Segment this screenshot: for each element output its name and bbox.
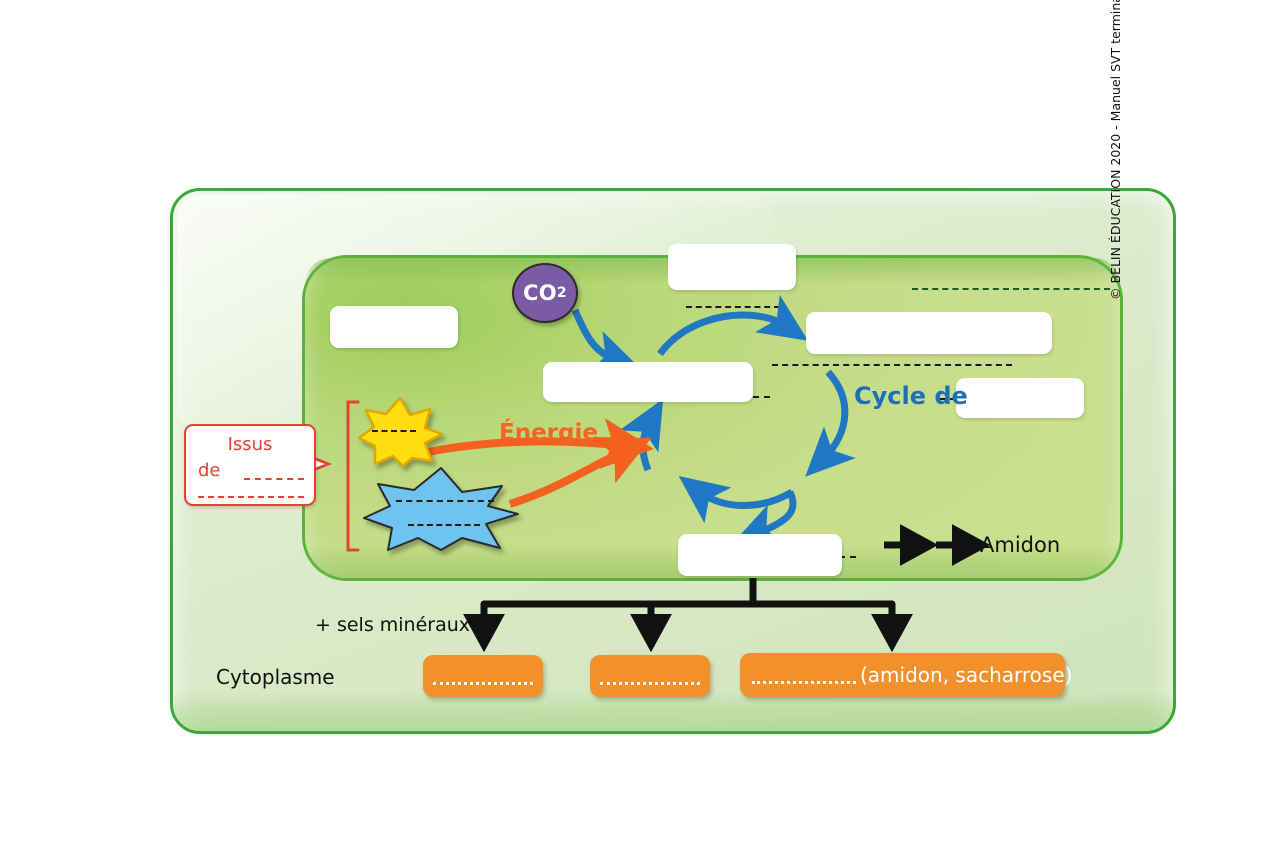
product-2-blank[interactable] <box>600 668 700 685</box>
arrow-energie-lower <box>510 450 626 504</box>
product-box-2[interactable] <box>590 655 710 697</box>
energie-label: Énergie <box>499 420 598 446</box>
arrow-co2-to-center <box>575 310 616 360</box>
answer-box-center-middle[interactable] <box>543 362 753 402</box>
copyright-text: © BELIN ÉDUCATION 2020 - Manuel SVT term… <box>1108 0 1123 300</box>
cytoplasme-label: Cytoplasme <box>216 665 335 689</box>
callout-blank-1[interactable] <box>244 478 304 480</box>
blank-line-blue-star-1[interactable] <box>396 500 494 502</box>
callout-blank-2[interactable] <box>198 496 304 498</box>
blank-line-blue-star-2[interactable] <box>408 524 480 526</box>
answer-box-right-upper[interactable] <box>806 312 1052 354</box>
callout-line-2: de <box>198 460 221 481</box>
cycle-arrow-top <box>660 315 786 354</box>
cycle-arrow-right <box>824 372 845 458</box>
branch-bar <box>484 604 892 612</box>
blank-line-yellow-star[interactable] <box>372 430 416 432</box>
product-3-blank[interactable] <box>752 667 856 684</box>
product-3-suffix: (amidon, sacharrose) <box>860 663 1072 687</box>
co2-text: CO <box>523 281 557 305</box>
blue-star-shape <box>362 466 520 552</box>
sels-mineraux-label: + sels minéraux <box>315 614 470 636</box>
amidon-label: Amidon <box>980 533 1060 557</box>
diagram-canvas: CO2 Énergie Cycle de Amidon + sels minér… <box>0 0 1278 856</box>
answer-box-bottom-center[interactable] <box>678 534 842 576</box>
product-1-blank[interactable] <box>433 668 533 685</box>
yellow-star-shape <box>357 396 443 468</box>
product-box-3[interactable]: (amidon, sacharrose) <box>740 653 1065 697</box>
cycle-de-label: Cycle de <box>854 382 968 410</box>
co2-subscript: 2 <box>557 285 567 301</box>
product-box-1[interactable] <box>423 655 543 697</box>
callout-line-1: Issus <box>186 434 314 455</box>
issus-de-callout[interactable]: Issus de <box>184 424 316 506</box>
co2-molecule-label: CO2 <box>512 263 578 323</box>
answer-box-top-center[interactable] <box>668 244 796 290</box>
cycle-arrow-bottom <box>700 492 792 506</box>
answer-box-cycle-de[interactable] <box>956 378 1084 418</box>
cycle-arrow-left <box>643 422 650 470</box>
answer-box-left-upper[interactable] <box>330 306 458 348</box>
